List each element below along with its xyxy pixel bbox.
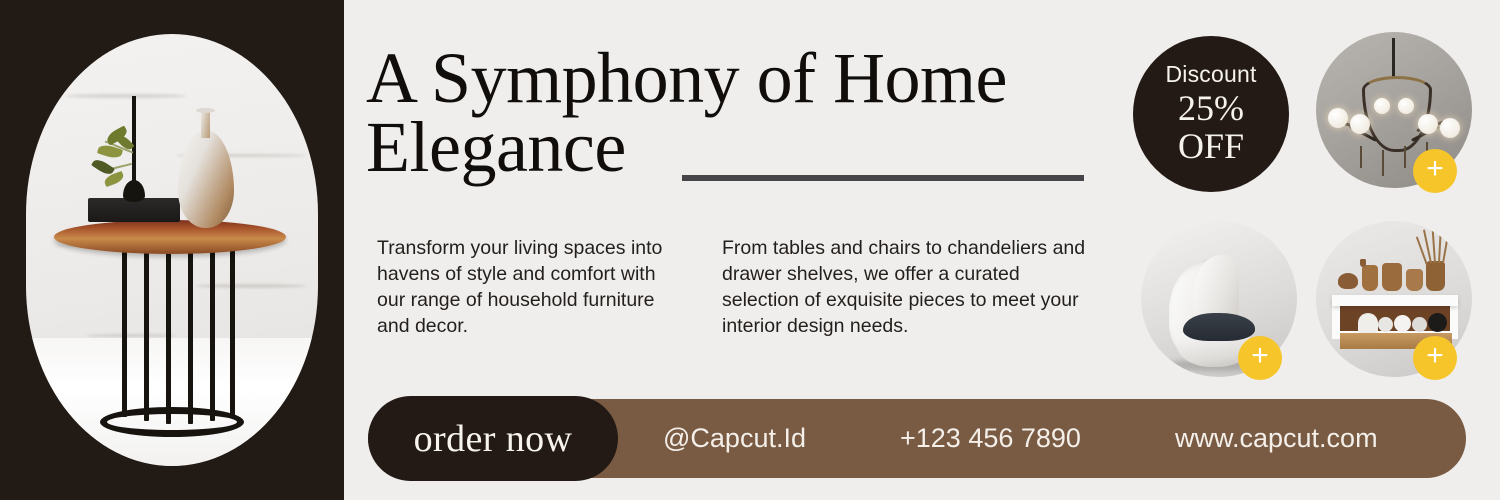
body-paragraph-1: Transform your living spaces into havens…: [377, 236, 687, 340]
phone-number[interactable]: +123 456 7890: [900, 399, 1081, 478]
ceramic-vase: [178, 130, 234, 228]
order-now-button[interactable]: order now: [368, 396, 618, 481]
headline-line-1: A Symphony of Home: [366, 38, 1007, 118]
floor: [26, 338, 318, 466]
promo-banner: A Symphony of Home Elegance Transform yo…: [0, 0, 1500, 500]
add-chandelier-icon[interactable]: +: [1413, 149, 1457, 193]
table-base-ring: [100, 407, 244, 437]
discount-off: OFF: [1178, 128, 1244, 165]
add-shelf-icon[interactable]: +: [1413, 336, 1457, 380]
discount-label: Discount: [1165, 63, 1256, 86]
hero-image-round-side-table: [26, 34, 318, 466]
discount-percent: 25%: [1178, 90, 1244, 127]
discount-badge: Discount 25% OFF: [1133, 36, 1289, 192]
headline-line-2: Elegance: [366, 113, 1106, 182]
hero-panel: [0, 0, 344, 500]
headline-underline: [682, 175, 1084, 181]
page-title: A Symphony of Home Elegance: [366, 44, 1106, 182]
social-handle[interactable]: @Capcut.Id: [663, 399, 806, 478]
body-paragraph-2: From tables and chairs to chandeliers an…: [722, 236, 1092, 340]
website-url[interactable]: www.capcut.com: [1175, 399, 1378, 478]
add-chair-icon[interactable]: +: [1238, 336, 1282, 380]
order-now-label: order now: [414, 417, 573, 461]
